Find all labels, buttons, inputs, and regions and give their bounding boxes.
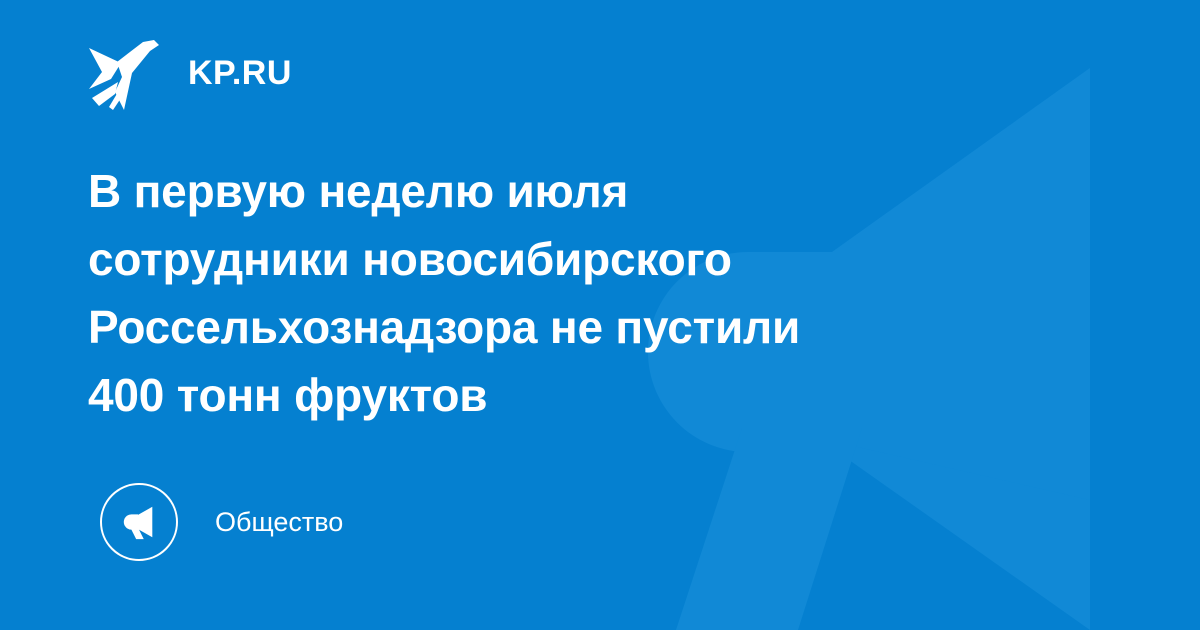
headline: В первую неделю июля сотрудники новосиби… [88, 157, 1018, 429]
rubric-label: Общество [215, 509, 343, 536]
rubric-badge [100, 483, 178, 561]
headline-line-4: 400 тонн фруктов [88, 361, 1018, 429]
swallow-bird-icon [88, 36, 162, 110]
headline-line-3: Россельхознадзора не пустили [88, 293, 1018, 361]
headline-line-1: В первую неделю июля [88, 157, 1018, 225]
headline-line-2: сотрудники новосибирского [88, 225, 1018, 293]
megaphone-icon [120, 503, 158, 541]
card-header: KP.RU [88, 30, 292, 116]
rubric-category[interactable]: Общество [100, 483, 343, 561]
social-share-card: KP.RU В первую неделю июля сотрудники но… [0, 0, 1200, 630]
brand-name: KP.RU [188, 56, 292, 90]
